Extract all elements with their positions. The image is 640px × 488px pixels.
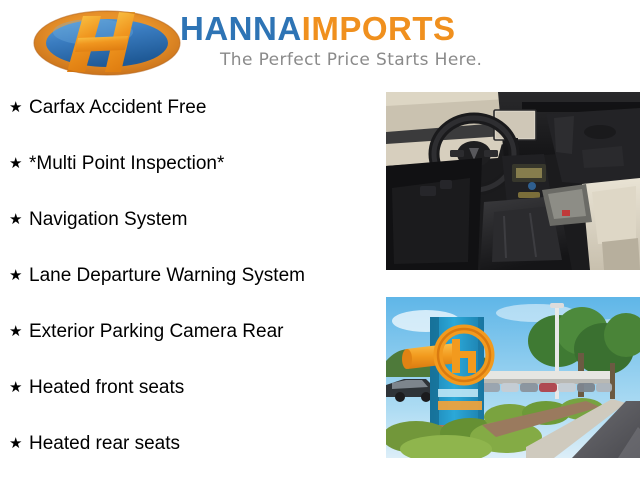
- dealership-sign-photo: [386, 297, 640, 458]
- brand-header: HANNAIMPORTS The Perfect Price Starts He…: [0, 0, 640, 88]
- star-bullet-icon: ★: [9, 96, 29, 120]
- brand-wordmark: HANNAIMPORTS The Perfect Price Starts He…: [180, 12, 510, 78]
- star-bullet-icon: ★: [9, 320, 29, 344]
- vehicle-interior-photo: [386, 92, 640, 270]
- hanna-h-ellipse-logo-icon: [33, 10, 181, 76]
- list-item: ★ *Multi Point Inspection*: [0, 152, 370, 208]
- feature-label: Heated front seats: [29, 376, 184, 400]
- list-item: ★ Carfax Accident Free: [0, 96, 370, 152]
- star-bullet-icon: ★: [9, 432, 29, 456]
- list-item: ★ Heated front seats: [0, 376, 370, 432]
- wordmark-hanna: HANNA: [180, 10, 302, 47]
- brand-tagline: The Perfect Price Starts Here.: [220, 50, 482, 70]
- feature-label: Heated rear seats: [29, 432, 180, 456]
- star-bullet-icon: ★: [9, 208, 29, 232]
- star-bullet-icon: ★: [9, 264, 29, 288]
- list-item: ★ Exterior Parking Camera Rear: [0, 320, 370, 376]
- feature-label: Lane Departure Warning System: [29, 264, 305, 288]
- feature-label: Navigation System: [29, 208, 187, 232]
- wordmark-imports: IMPORTS: [302, 10, 456, 47]
- star-bullet-icon: ★: [9, 152, 29, 176]
- feature-label: Exterior Parking Camera Rear: [29, 320, 283, 344]
- feature-label: *Multi Point Inspection*: [29, 152, 224, 176]
- list-item: ★ Navigation System: [0, 208, 370, 264]
- list-item: ★ Lane Departure Warning System: [0, 264, 370, 320]
- star-bullet-icon: ★: [9, 376, 29, 400]
- vehicle-feature-list: ★ Carfax Accident Free ★ *Multi Point In…: [0, 96, 370, 488]
- feature-label: Carfax Accident Free: [29, 96, 206, 120]
